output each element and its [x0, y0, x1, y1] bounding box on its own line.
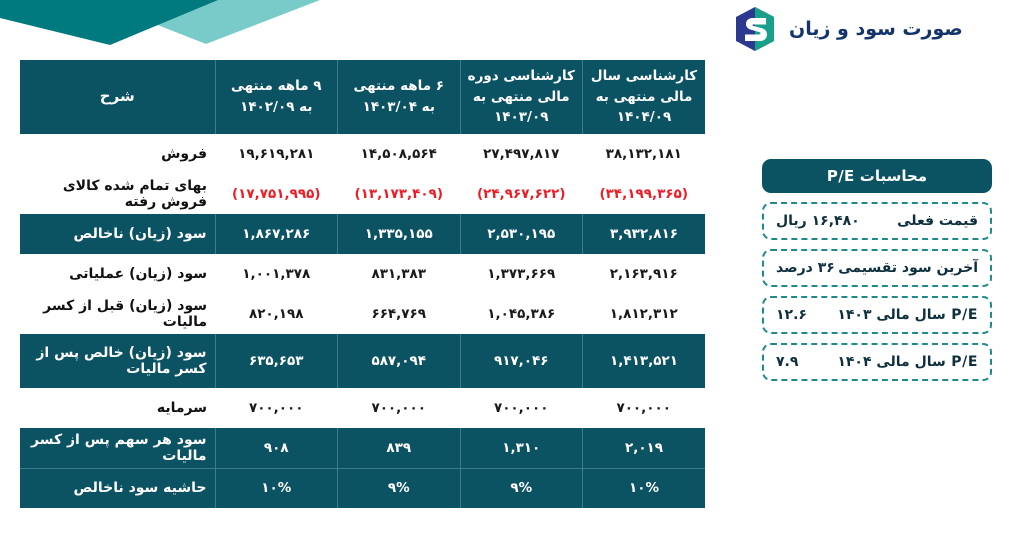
cell-value: ۱۴,۵۰۸,۵۶۴: [338, 134, 461, 174]
cell-value: ۹۱۷,۰۴۶: [460, 334, 583, 388]
cell-value: ۳۸,۱۳۲,۱۸۱: [583, 134, 706, 174]
cell-value: ۲,۰۱۹: [583, 428, 706, 468]
table-row: ۲,۱۶۳,۹۱۶ ۱,۳۷۳,۶۶۹ ۸۳۱,۳۸۳ ۱,۰۰۱,۳۷۸ سو…: [20, 254, 705, 294]
cell-value: ۳,۹۳۲,۸۱۶: [583, 214, 706, 254]
table-row: ۱۰% ۹% ۹% ۱۰% حاشیه سود ناخالص: [20, 468, 705, 508]
pe-item-fy1403: P/E سال مالی ۱۴۰۳ ۱۲.۶: [762, 296, 992, 334]
cell-value: ۱,۰۴۵,۳۸۶: [460, 294, 583, 334]
page-title: صورت سود و زیان: [789, 18, 963, 40]
cell-row-label: سود هر سهم پس از کسر مالیات: [20, 428, 215, 468]
table-row: ۱,۸۱۲,۳۱۲ ۱,۰۴۵,۳۸۶ ۶۶۴,۷۶۹ ۸۲۰,۱۹۸ سود …: [20, 294, 705, 334]
pe-item-label: P/E سال مالی ۱۴۰۴: [837, 354, 978, 370]
cell-value: ۹۰۸: [215, 428, 338, 468]
company-hexagon-logo-icon: [733, 6, 777, 52]
cell-value: ۱,۳۱۰: [460, 428, 583, 468]
income-statement-table: کارشناسی سال مالی منتهی به ۱۴۰۴/۰۹ کارشن…: [20, 60, 705, 508]
pe-item-label: آخرین سود تقسیمی: [838, 260, 978, 276]
column-header-description: شرح: [20, 60, 215, 134]
table-row: ۷۰۰,۰۰۰ ۷۰۰,۰۰۰ ۷۰۰,۰۰۰ ۷۰۰,۰۰۰ سرمایه: [20, 388, 705, 428]
cell-value: ۷۰۰,۰۰۰: [460, 388, 583, 428]
pe-item-value: ۱۶,۴۸۰ ریال: [776, 213, 860, 229]
column-header-p1404: کارشناسی سال مالی منتهی به ۱۴۰۴/۰۹: [583, 60, 706, 134]
pe-item-current-price: قیمت فعلی ۱۶,۴۸۰ ریال: [762, 202, 992, 240]
pe-panel-title: محاسبات P/E: [762, 159, 992, 193]
cell-value: ۲۷,۴۹۷,۸۱۷: [460, 134, 583, 174]
cell-value: ۱,۴۱۳,۵۲۱: [583, 334, 706, 388]
chevron-dark-shape: [0, 0, 218, 45]
table-row: (۳۴,۱۹۹,۳۶۵) (۲۴,۹۶۷,۶۲۲) (۱۳,۱۷۳,۴۰۹) (…: [20, 174, 705, 214]
pe-item-value: ۳۶ درصد: [776, 260, 835, 276]
cell-row-label: بهای تمام شده کالای فروش رفته: [20, 174, 215, 214]
cell-row-label: سود (زیان) عملیاتی: [20, 254, 215, 294]
cell-row-label: فروش: [20, 134, 215, 174]
cell-row-label: سود (زیان) خالص پس از کسر مالیات: [20, 334, 215, 388]
document-header: صورت سود و زیان: [719, 0, 1009, 58]
cell-value: ۱۰%: [215, 468, 338, 508]
cell-value: ۶۶۴,۷۶۹: [338, 294, 461, 334]
cell-value: ۹%: [338, 468, 461, 508]
cell-value: ۵۸۷,۰۹۴: [338, 334, 461, 388]
cell-value: (۳۴,۱۹۹,۳۶۵): [583, 174, 706, 214]
pe-item-last-dividend: آخرین سود تقسیمی ۳۶ درصد: [762, 249, 992, 287]
cell-value: (۱۳,۱۷۳,۴۰۹): [338, 174, 461, 214]
cell-value: ۱,۰۰۱,۳۷۸: [215, 254, 338, 294]
pe-calculations-panel: محاسبات P/E قیمت فعلی ۱۶,۴۸۰ ریال آخرین …: [762, 159, 992, 381]
table-row: ۲,۰۱۹ ۱,۳۱۰ ۸۳۹ ۹۰۸ سود هر سهم پس از کسر…: [20, 428, 705, 468]
cell-value: ۹%: [460, 468, 583, 508]
cell-value: ۸۳۹: [338, 428, 461, 468]
table-row: ۳۸,۱۳۲,۱۸۱ ۲۷,۴۹۷,۸۱۷ ۱۴,۵۰۸,۵۶۴ ۱۹,۶۱۹,…: [20, 134, 705, 174]
cell-value: ۸۲۰,۱۹۸: [215, 294, 338, 334]
column-header-p1403-04: ۶ ماهه منتهی به ۱۴۰۳/۰۴: [338, 60, 461, 134]
cell-value: ۱,۳۳۵,۱۵۵: [338, 214, 461, 254]
cell-value: ۷۰۰,۰۰۰: [338, 388, 461, 428]
table-row: ۱,۴۱۳,۵۲۱ ۹۱۷,۰۴۶ ۵۸۷,۰۹۴ ۶۳۵,۶۵۳ سود (ز…: [20, 334, 705, 388]
cell-value: ۱,۸۶۷,۲۸۶: [215, 214, 338, 254]
cell-value: ۲,۵۳۰,۱۹۵: [460, 214, 583, 254]
cell-value: ۷۰۰,۰۰۰: [215, 388, 338, 428]
table-header-row: کارشناسی سال مالی منتهی به ۱۴۰۴/۰۹ کارشن…: [20, 60, 705, 134]
cell-value: ۱,۳۷۳,۶۶۹: [460, 254, 583, 294]
cell-value: ۱۰%: [583, 468, 706, 508]
pe-item-fy1404: P/E سال مالی ۱۴۰۴ ۷.۹: [762, 343, 992, 381]
column-header-p1403-09: کارشناسی دوره مالی منتهی به ۱۴۰۳/۰۹: [460, 60, 583, 134]
cell-value: ۸۳۱,۳۸۳: [338, 254, 461, 294]
cell-value: ۱,۸۱۲,۳۱۲: [583, 294, 706, 334]
cell-row-label: سرمایه: [20, 388, 215, 428]
cell-row-label: سود (زیان) قبل از کسر مالیات: [20, 294, 215, 334]
chevron-light-shape: [150, 0, 320, 44]
cell-row-label: حاشیه سود ناخالص: [20, 468, 215, 508]
table-row: ۳,۹۳۲,۸۱۶ ۲,۵۳۰,۱۹۵ ۱,۳۳۵,۱۵۵ ۱,۸۶۷,۲۸۶ …: [20, 214, 705, 254]
pe-item-label: P/E سال مالی ۱۴۰۳: [837, 307, 978, 323]
column-header-p1402-09: ۹ ماهه منتهی به ۱۴۰۲/۰۹: [215, 60, 338, 134]
cell-value: ۱۹,۶۱۹,۲۸۱: [215, 134, 338, 174]
cell-value: ۲,۱۶۳,۹۱۶: [583, 254, 706, 294]
cell-row-label: سود (زیان) ناخالص: [20, 214, 215, 254]
table-body: ۳۸,۱۳۲,۱۸۱ ۲۷,۴۹۷,۸۱۷ ۱۴,۵۰۸,۵۶۴ ۱۹,۶۱۹,…: [20, 134, 705, 508]
pe-item-value: ۱۲.۶: [776, 307, 807, 323]
cell-value: ۷۰۰,۰۰۰: [583, 388, 706, 428]
decorative-chevrons: [0, 0, 340, 50]
pe-item-label: قیمت فعلی: [897, 213, 978, 229]
pe-item-value: ۷.۹: [776, 354, 798, 370]
cell-value: ۶۳۵,۶۵۳: [215, 334, 338, 388]
cell-value: (۱۷,۷۵۱,۹۹۵): [215, 174, 338, 214]
cell-value: (۲۴,۹۶۷,۶۲۲): [460, 174, 583, 214]
